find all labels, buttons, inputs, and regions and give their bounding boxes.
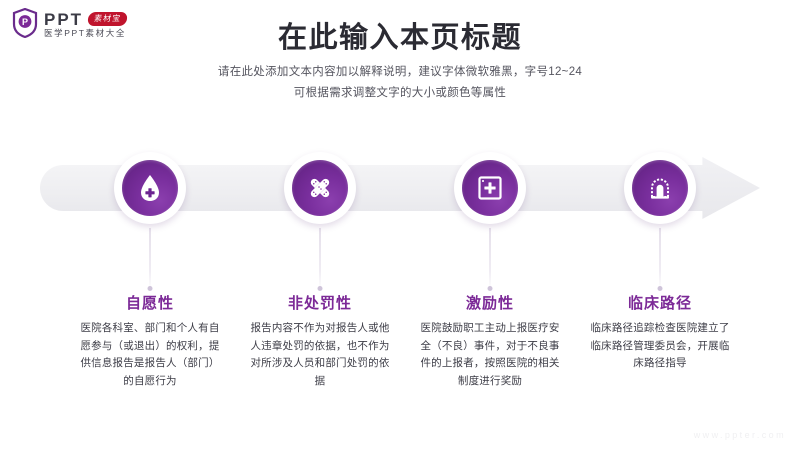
page-title: 在此输入本页标题 <box>0 14 800 56</box>
medical-arch-icon <box>632 160 688 216</box>
pin-connector-dot-4 <box>658 286 663 291</box>
pin-connector-1 <box>150 228 151 290</box>
pin-connector-dot-1 <box>148 286 153 291</box>
pin-connector-4 <box>660 228 661 290</box>
column-heading-2: 非处罚性 <box>225 292 415 313</box>
pin-connector-3 <box>490 228 491 290</box>
crossed-bandages-icon <box>292 160 348 216</box>
column-body-3: 医院鼓励职工主动上报医疗安全（不良）事件，对于不良事件的上报者，按照医院的相关制… <box>395 320 585 390</box>
page-subtitle-line-1: 请在此处添加文本内容加以解释说明，建议字体微软雅黑，字号12~24 <box>0 62 800 83</box>
column-heading-3: 激励性 <box>395 292 585 313</box>
column-heading-1: 自愿性 <box>55 292 245 313</box>
blood-drop-cross-icon <box>122 160 178 216</box>
column-body-4: 临床路径追踪检查医院建立了临床路径管理委员会，开展临床路径指导 <box>565 320 755 373</box>
pin-connector-2 <box>320 228 321 290</box>
page-subtitle-line-2: 可根据需求调整文字的大小或颜色等属性 <box>0 83 800 104</box>
column-body-1: 医院各科室、部门和个人有自愿参与（或退出）的权利，提供信息报告是报告人（部门）的… <box>55 320 245 390</box>
pin-connector-dot-2 <box>318 286 323 291</box>
watermark: www.ppter.com <box>694 430 786 440</box>
first-aid-kit-icon <box>462 160 518 216</box>
column-heading-4: 临床路径 <box>565 292 755 313</box>
page-subtitle: 请在此处添加文本内容加以解释说明，建议字体微软雅黑，字号12~24 可根据需求调… <box>0 62 800 104</box>
pin-connector-dot-3 <box>488 286 493 291</box>
column-body-2: 报告内容不作为对报告人或他人违章处罚的依据，也不作为对所涉及人员和部门处罚的依据 <box>225 320 415 390</box>
